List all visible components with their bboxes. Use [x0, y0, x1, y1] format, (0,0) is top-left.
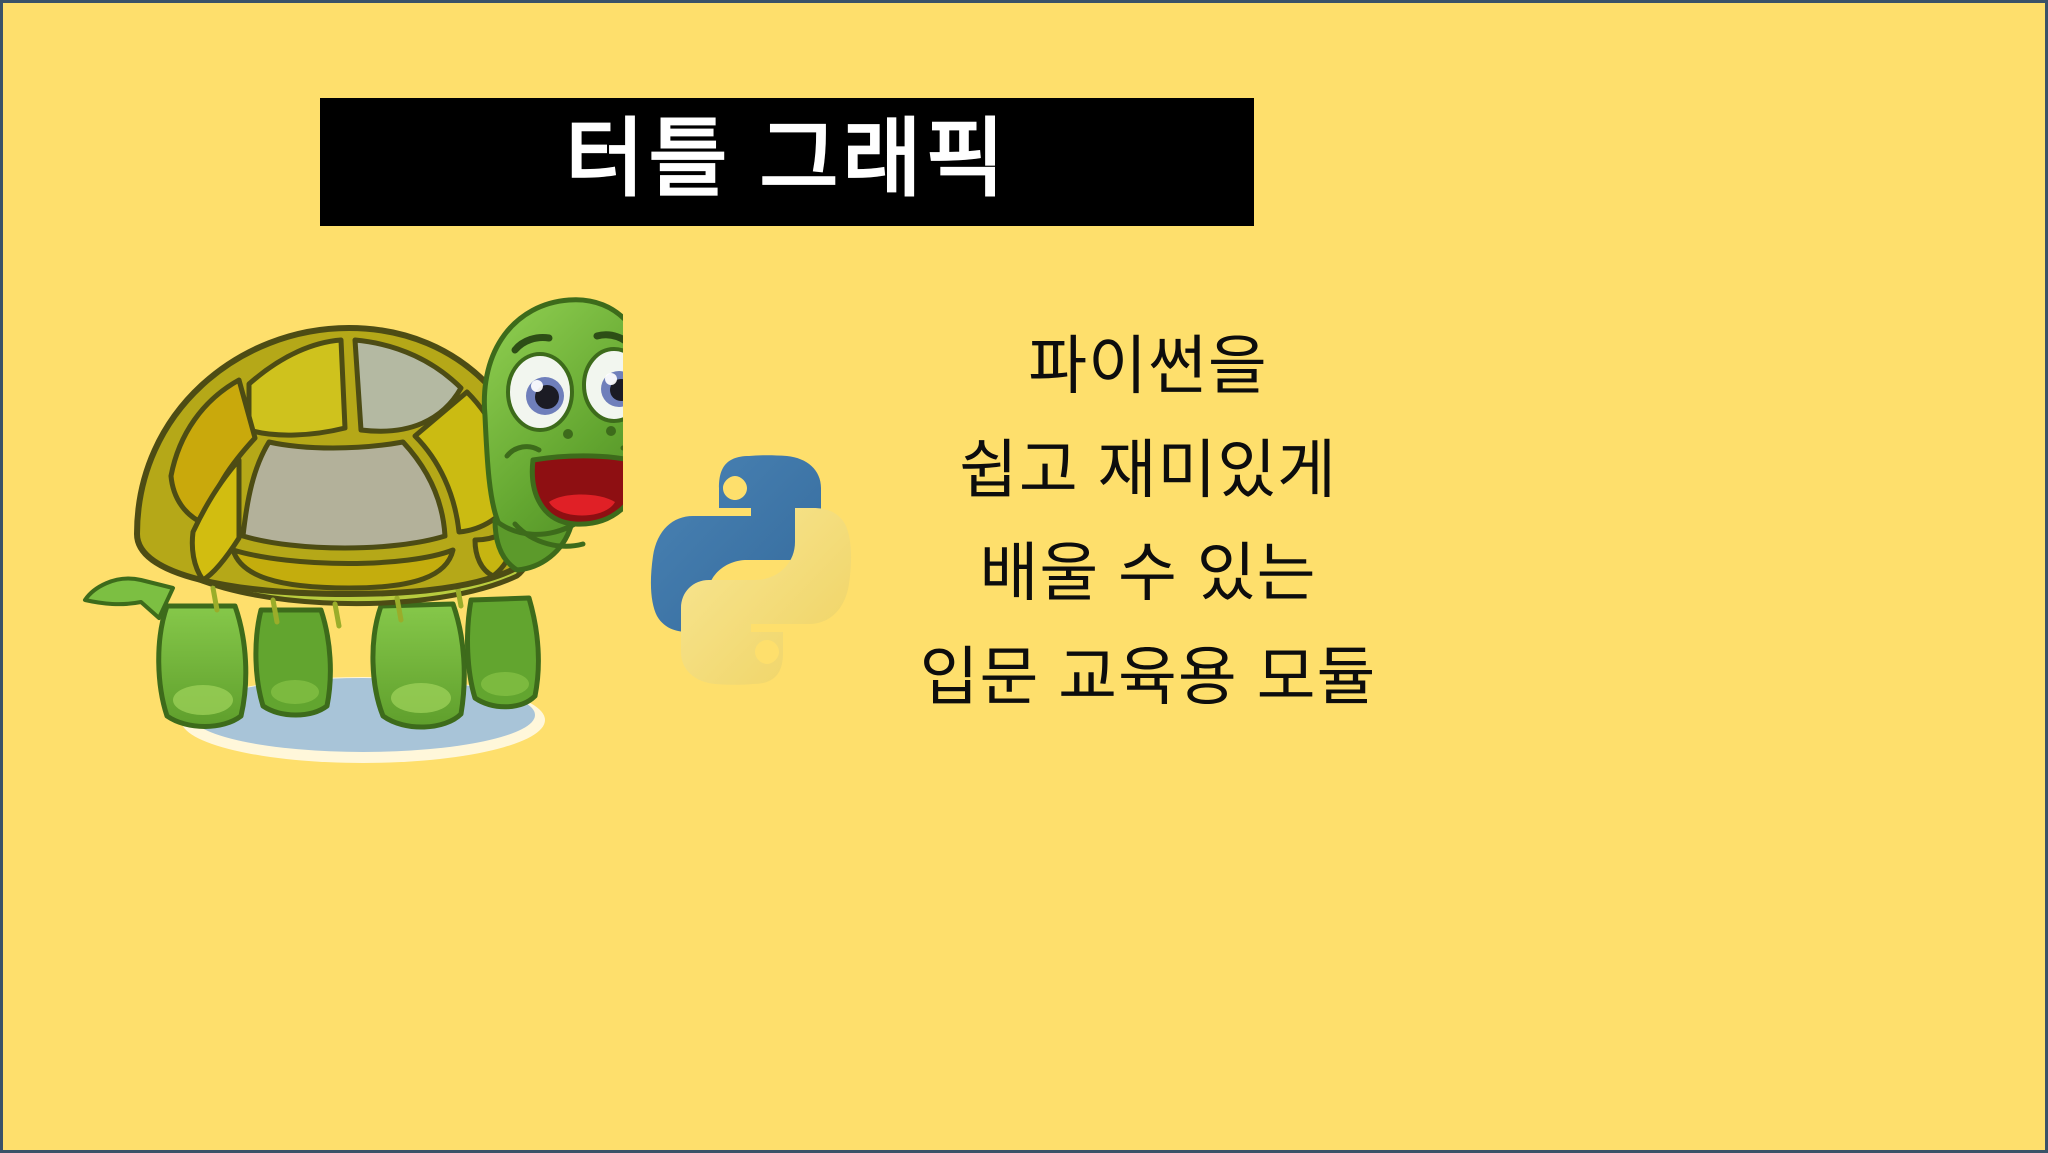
caption-line-1: 파이썬을 — [898, 315, 1398, 419]
slide-canvas: 터틀 그래픽 — [0, 0, 2048, 1153]
turtle-tail — [85, 579, 173, 618]
caption-line-2: 쉽고 재미있게 — [898, 419, 1398, 523]
title-banner: 터틀 그래픽 — [320, 98, 1254, 226]
turtle-head — [484, 300, 623, 570]
caption-block: 파이썬을 쉽고 재미있게 배울 수 있는 입문 교육용 모듈 — [898, 315, 1398, 730]
python-logo-icon — [631, 446, 871, 694]
caption-line-3: 배울 수 있는 — [898, 522, 1398, 626]
page-title: 터틀 그래픽 — [565, 116, 1009, 208]
caption-line-4: 입문 교육용 모듈 — [898, 626, 1398, 730]
cartoon-turtle-icon — [63, 288, 623, 778]
